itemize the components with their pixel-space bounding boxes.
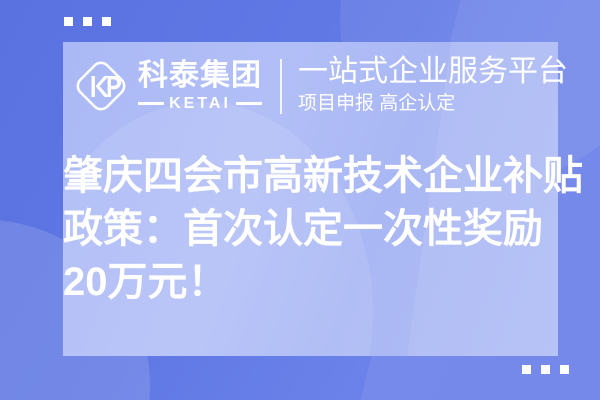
headline-text: 肇庆四会市高新技术企业补贴政策：首次认定一次性奖励20万元！ (63, 150, 583, 308)
tagline-sub: 项目申报 高企认定 (298, 92, 550, 116)
ketai-kp-monogram-icon (71, 56, 131, 116)
header-divider (280, 59, 282, 114)
wordmark-rule-right (236, 102, 262, 105)
banner-header: 科泰集团 KETAI 一站式企业服务平台 项目申报 高企认定 (63, 42, 558, 130)
tagline: 一站式企业服务平台 项目申报 高企认定 (298, 56, 550, 115)
wordmark-rule-left (138, 102, 164, 105)
brand-name-cn: 科泰集团 (138, 61, 262, 91)
decor-dot (541, 365, 550, 374)
brand-wordmark: 科泰集团 KETAI (138, 61, 262, 112)
decor-dot (522, 365, 531, 374)
decor-dots-top-left (64, 17, 111, 26)
brand-name-en: KETAI (169, 96, 231, 112)
decor-dots-bottom-right (522, 365, 569, 374)
tagline-main: 一站式企业服务平台 (298, 56, 550, 88)
decor-dot (560, 365, 569, 374)
brand-name-en-row: KETAI (138, 96, 262, 112)
brand-logo[interactable]: 科泰集团 KETAI (71, 56, 262, 116)
decor-dot (102, 17, 111, 26)
promo-banner: 科泰集团 KETAI 一站式企业服务平台 项目申报 高企认定 肇庆四会市高新技术… (0, 0, 600, 400)
decor-dot (83, 17, 92, 26)
decor-dot (64, 17, 73, 26)
